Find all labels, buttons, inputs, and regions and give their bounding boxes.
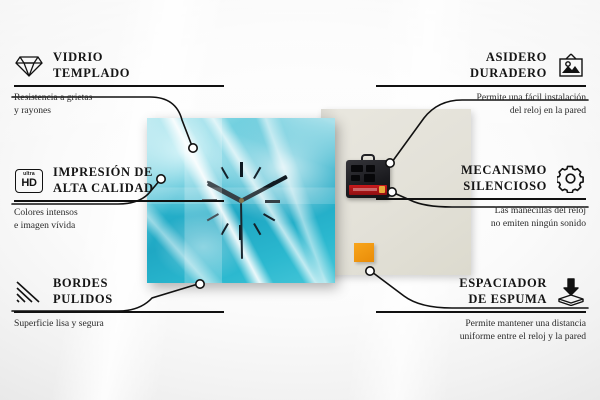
picture-frame-hanger-icon	[556, 52, 586, 80]
feature-asidero-duradero: ASIDERO DURADERO Permite una fácil insta…	[376, 50, 586, 118]
feature-desc-2: no emiten ningún sonido	[376, 218, 586, 231]
divider	[14, 85, 224, 87]
divider	[14, 311, 224, 313]
ultra-hd-badge-icon: ultra HD	[14, 167, 44, 195]
feature-desc-2: del reloj en la pared	[376, 105, 586, 118]
feature-title-2: SILENCIOSO	[461, 179, 547, 195]
feature-vidrio-templado: VIDRIO TEMPLADO Resistencia a grietas y …	[14, 50, 224, 118]
divider	[376, 85, 586, 87]
feature-desc-2: e imagen vívida	[14, 220, 224, 233]
foam-spacer-block	[354, 243, 374, 262]
clock-minute-hand	[240, 174, 288, 202]
feature-mecanismo-silencioso: MECANISMO SILENCIOSO Las manecillas del …	[376, 163, 586, 231]
divider	[14, 200, 224, 202]
feature-title-2: TEMPLADO	[53, 66, 130, 82]
clock-second-hand	[240, 200, 243, 258]
feature-title: VIDRIO	[53, 50, 130, 66]
clock-center-hub	[239, 198, 244, 203]
feature-title: IMPRESIÓN DE	[53, 165, 154, 181]
gear-icon	[556, 165, 586, 193]
feature-impresion-alta-calidad: ultra HD IMPRESIÓN DE ALTA CALIDAD Color…	[14, 165, 224, 233]
feature-title: MECANISMO	[461, 163, 547, 179]
feature-desc: Permite una fácil instalación	[376, 92, 586, 105]
feature-title-2: DURADERO	[470, 66, 547, 82]
feature-title: ESPACIADOR	[459, 276, 547, 292]
diamond-icon	[14, 52, 44, 80]
feature-title: ASIDERO	[470, 50, 547, 66]
divider	[376, 311, 586, 313]
feature-title-2: ALTA CALIDAD	[53, 181, 154, 197]
feature-desc: Permite mantener una distancia	[376, 318, 586, 331]
divider	[376, 198, 586, 200]
hd-badge-hd-text: HD	[21, 178, 36, 189]
arrow-down-onto-pad-icon	[556, 278, 586, 306]
feature-desc: Colores intensos	[14, 207, 224, 220]
feature-desc: Superficie lisa y segura	[14, 318, 224, 331]
feature-title-2: DE ESPUMA	[459, 292, 547, 308]
feature-title: BORDES	[53, 276, 113, 292]
feature-bordes-pulidos: BORDES PULIDOS Superficie lisa y segura	[14, 276, 224, 331]
feature-title-2: PULIDOS	[53, 292, 113, 308]
feature-desc-2: uniforme entre el reloj y la pared	[376, 331, 586, 344]
feature-espaciador-de-espuma: ESPACIADOR DE ESPUMA Permite mantener un…	[376, 276, 586, 344]
feature-desc: Resistencia a grietas	[14, 92, 224, 105]
polished-edge-stripes-icon	[14, 278, 44, 306]
feature-desc-2: y rayones	[14, 105, 224, 118]
feature-desc: Las manecillas del reloj	[376, 205, 586, 218]
